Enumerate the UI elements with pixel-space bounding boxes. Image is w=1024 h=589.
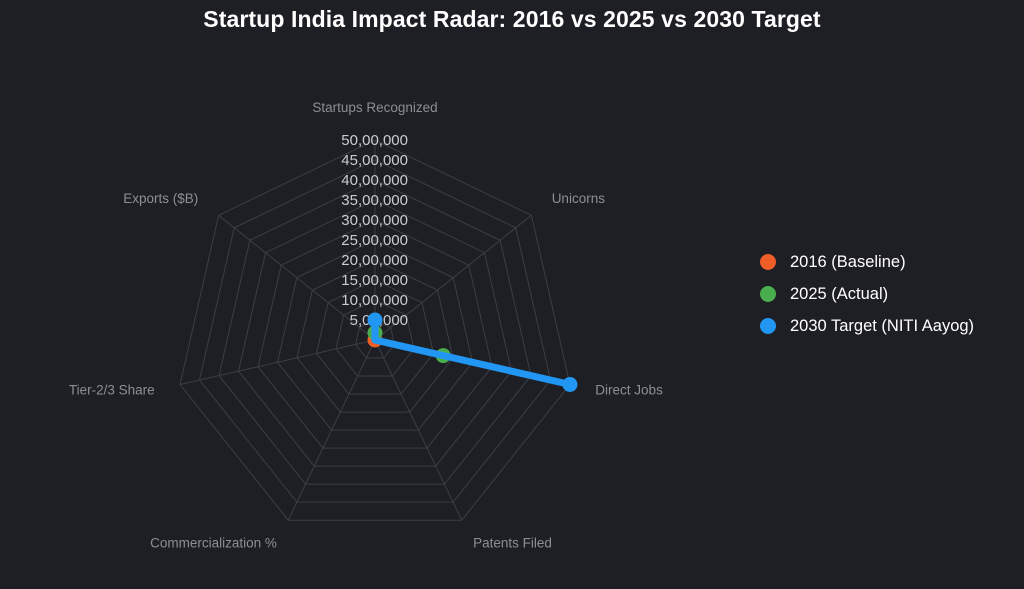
legend-label-2030: 2030 Target (NITI Aayog) [790,317,974,336]
axis-label-5: Tier-2/3 Share [69,382,155,397]
radial-tick-6: 35,00,000 [341,192,408,209]
radial-tick-9: 50,00,000 [341,132,408,149]
legend-swatch-2025 [760,286,776,302]
axis-label-4: Commercialization % [150,536,277,551]
legend-swatch-2030 [760,318,776,334]
legend-label-2016: 2016 (Baseline) [790,253,906,272]
axis-label-1: Unicorns [552,191,606,206]
legend-item-1[interactable]: 2025 (Actual) [760,278,1022,310]
series-2-point-2 [562,377,577,392]
chart-legend: 2016 (Baseline) 2025 (Actual) 2030 Targe… [760,246,1022,342]
axis-label-0: Startups Recognized [312,100,437,115]
legend-label-2025: 2025 (Actual) [790,285,888,304]
radial-tick-7: 40,00,000 [341,172,408,189]
legend-item-2[interactable]: 2030 Target (NITI Aayog) [760,310,1022,342]
radial-tick-1: 10,00,000 [341,292,408,309]
series-2-point-0 [368,313,383,328]
legend-item-0[interactable]: 2016 (Baseline) [760,246,1022,278]
axis-label-6: Exports ($B) [123,191,198,206]
radial-tick-8: 45,00,000 [341,152,408,169]
grid-spoke-5 [180,340,375,385]
series-line-2 [375,320,570,385]
legend-swatch-2016 [760,254,776,270]
radar-chart-figure: Startup India Impact Radar: 2016 vs 2025… [0,0,1024,589]
radial-tick-5: 30,00,000 [341,212,408,229]
radial-tick-4: 25,00,000 [341,232,408,249]
radial-tick-2: 15,00,000 [341,272,408,289]
radial-tick-3: 20,00,000 [341,252,408,269]
axis-label-3: Patents Filed [473,536,552,551]
axis-label-2: Direct Jobs [595,382,663,397]
